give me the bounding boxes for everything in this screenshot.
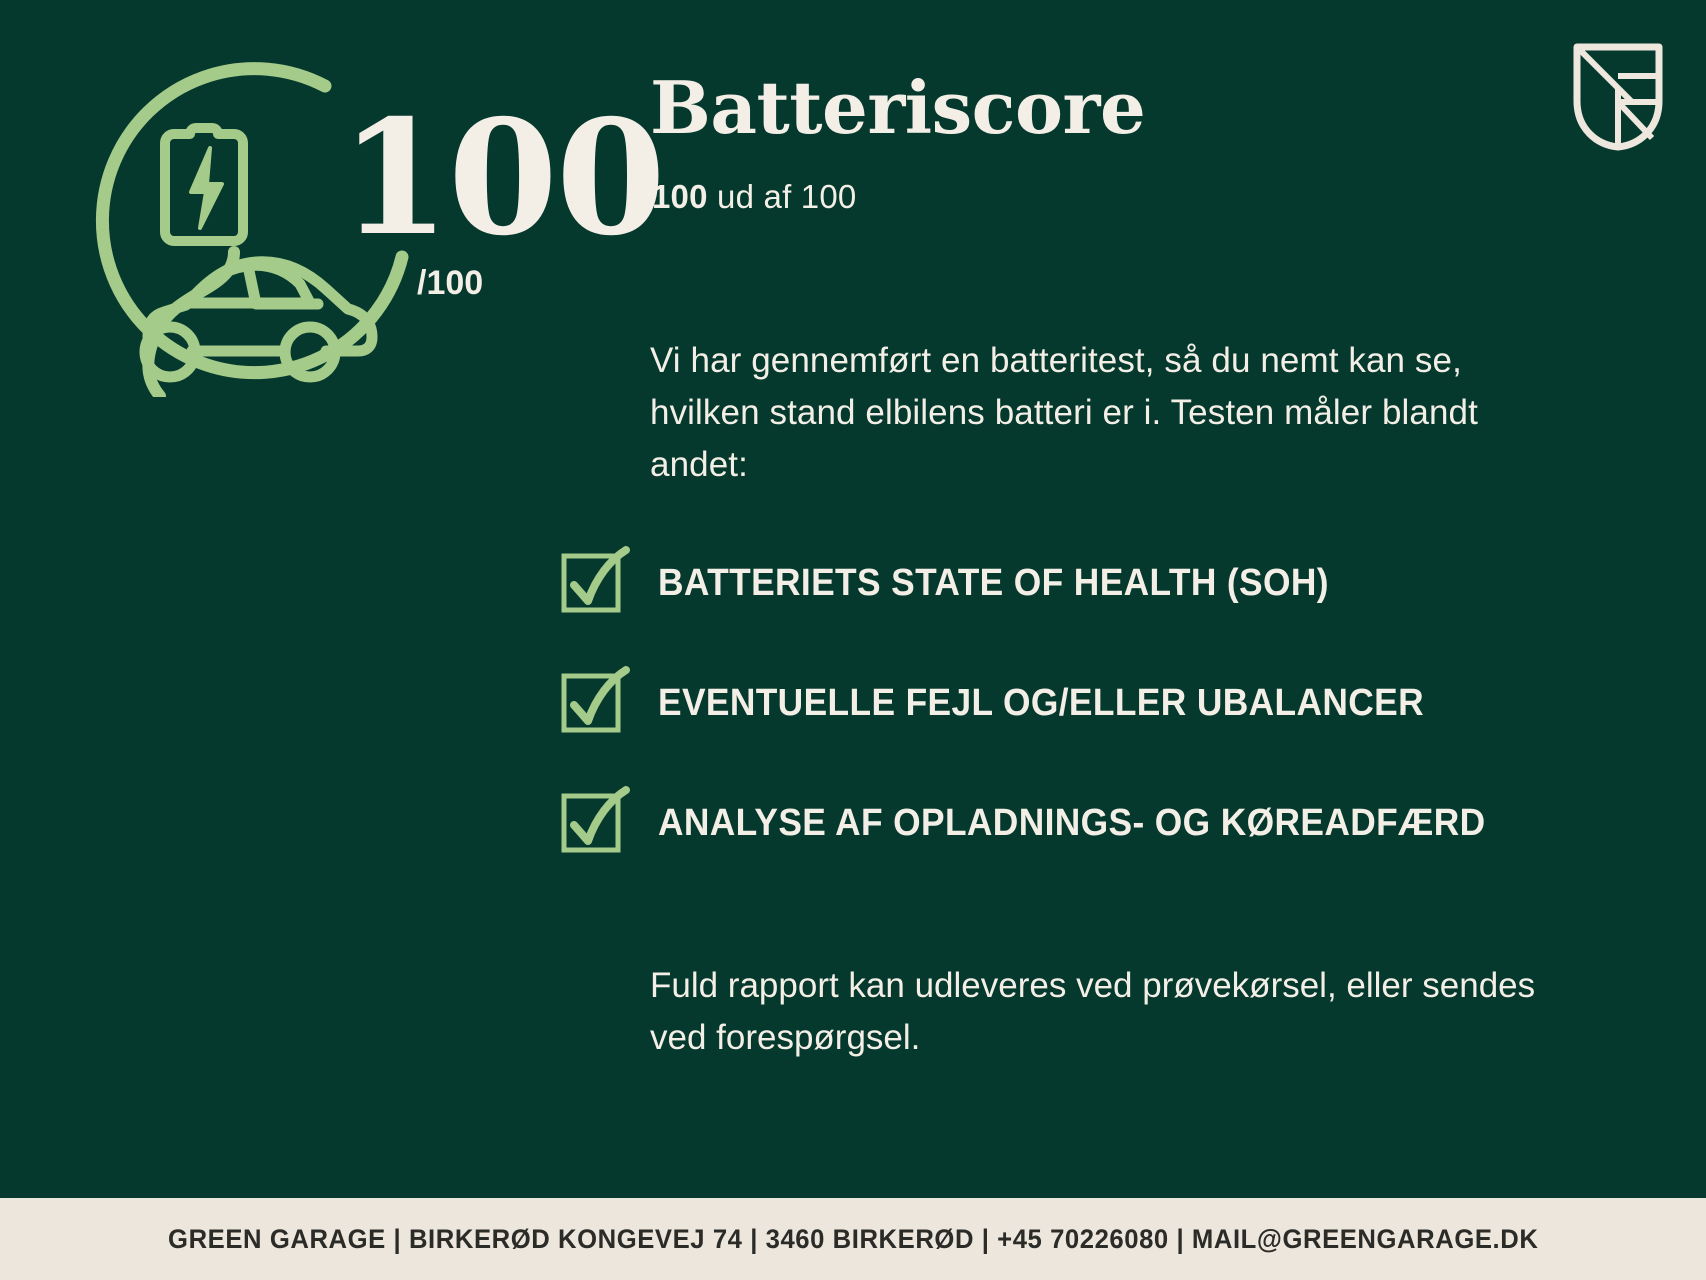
lead-paragraph: Vi har gennemført en batteritest, så du … bbox=[650, 335, 1550, 490]
battery-bolt-icon bbox=[165, 128, 243, 241]
battery-score-badge: 100 /100 bbox=[82, 52, 422, 397]
battery-score-card: 100 /100 Batteriscore 100 ud af 100 Vi h… bbox=[0, 0, 1706, 1280]
footer-contact-text: GREEN GARAGE | BIRKERØD KONGEVEJ 74 | 34… bbox=[168, 1224, 1538, 1255]
checkmark-icon bbox=[560, 672, 622, 734]
score-subtitle: 100 ud af 100 bbox=[652, 178, 856, 216]
checkmark-icon bbox=[560, 552, 622, 614]
score-denominator: /100 bbox=[417, 264, 483, 303]
page-title: Batteriscore bbox=[650, 72, 1145, 144]
score-subtitle-value: 100 bbox=[652, 178, 708, 215]
score-subtitle-rest: ud af 100 bbox=[708, 178, 857, 215]
list-item: EVENTUELLE FEJL OG/ELLER UBALANCER bbox=[560, 672, 1620, 734]
score-value: 100 bbox=[340, 100, 664, 258]
green-garage-shield-logo bbox=[1572, 42, 1664, 152]
checklist-label: ANALYSE AF OPLADNINGS- OG KØREADFÆRD bbox=[658, 802, 1486, 845]
footer-bar: GREEN GARAGE | BIRKERØD KONGEVEJ 74 | 34… bbox=[0, 1198, 1706, 1280]
checkmark-icon bbox=[560, 792, 622, 854]
test-checklist: BATTERIETS STATE OF HEALTH (SOH) EVENTUE… bbox=[560, 552, 1620, 854]
closing-paragraph: Fuld rapport kan udleveres ved prøvekørs… bbox=[650, 960, 1580, 1064]
list-item: ANALYSE AF OPLADNINGS- OG KØREADFÆRD bbox=[560, 792, 1620, 854]
checklist-label: EVENTUELLE FEJL OG/ELLER UBALANCER bbox=[658, 682, 1424, 725]
checklist-label: BATTERIETS STATE OF HEALTH (SOH) bbox=[658, 562, 1329, 605]
list-item: BATTERIETS STATE OF HEALTH (SOH) bbox=[560, 552, 1620, 614]
